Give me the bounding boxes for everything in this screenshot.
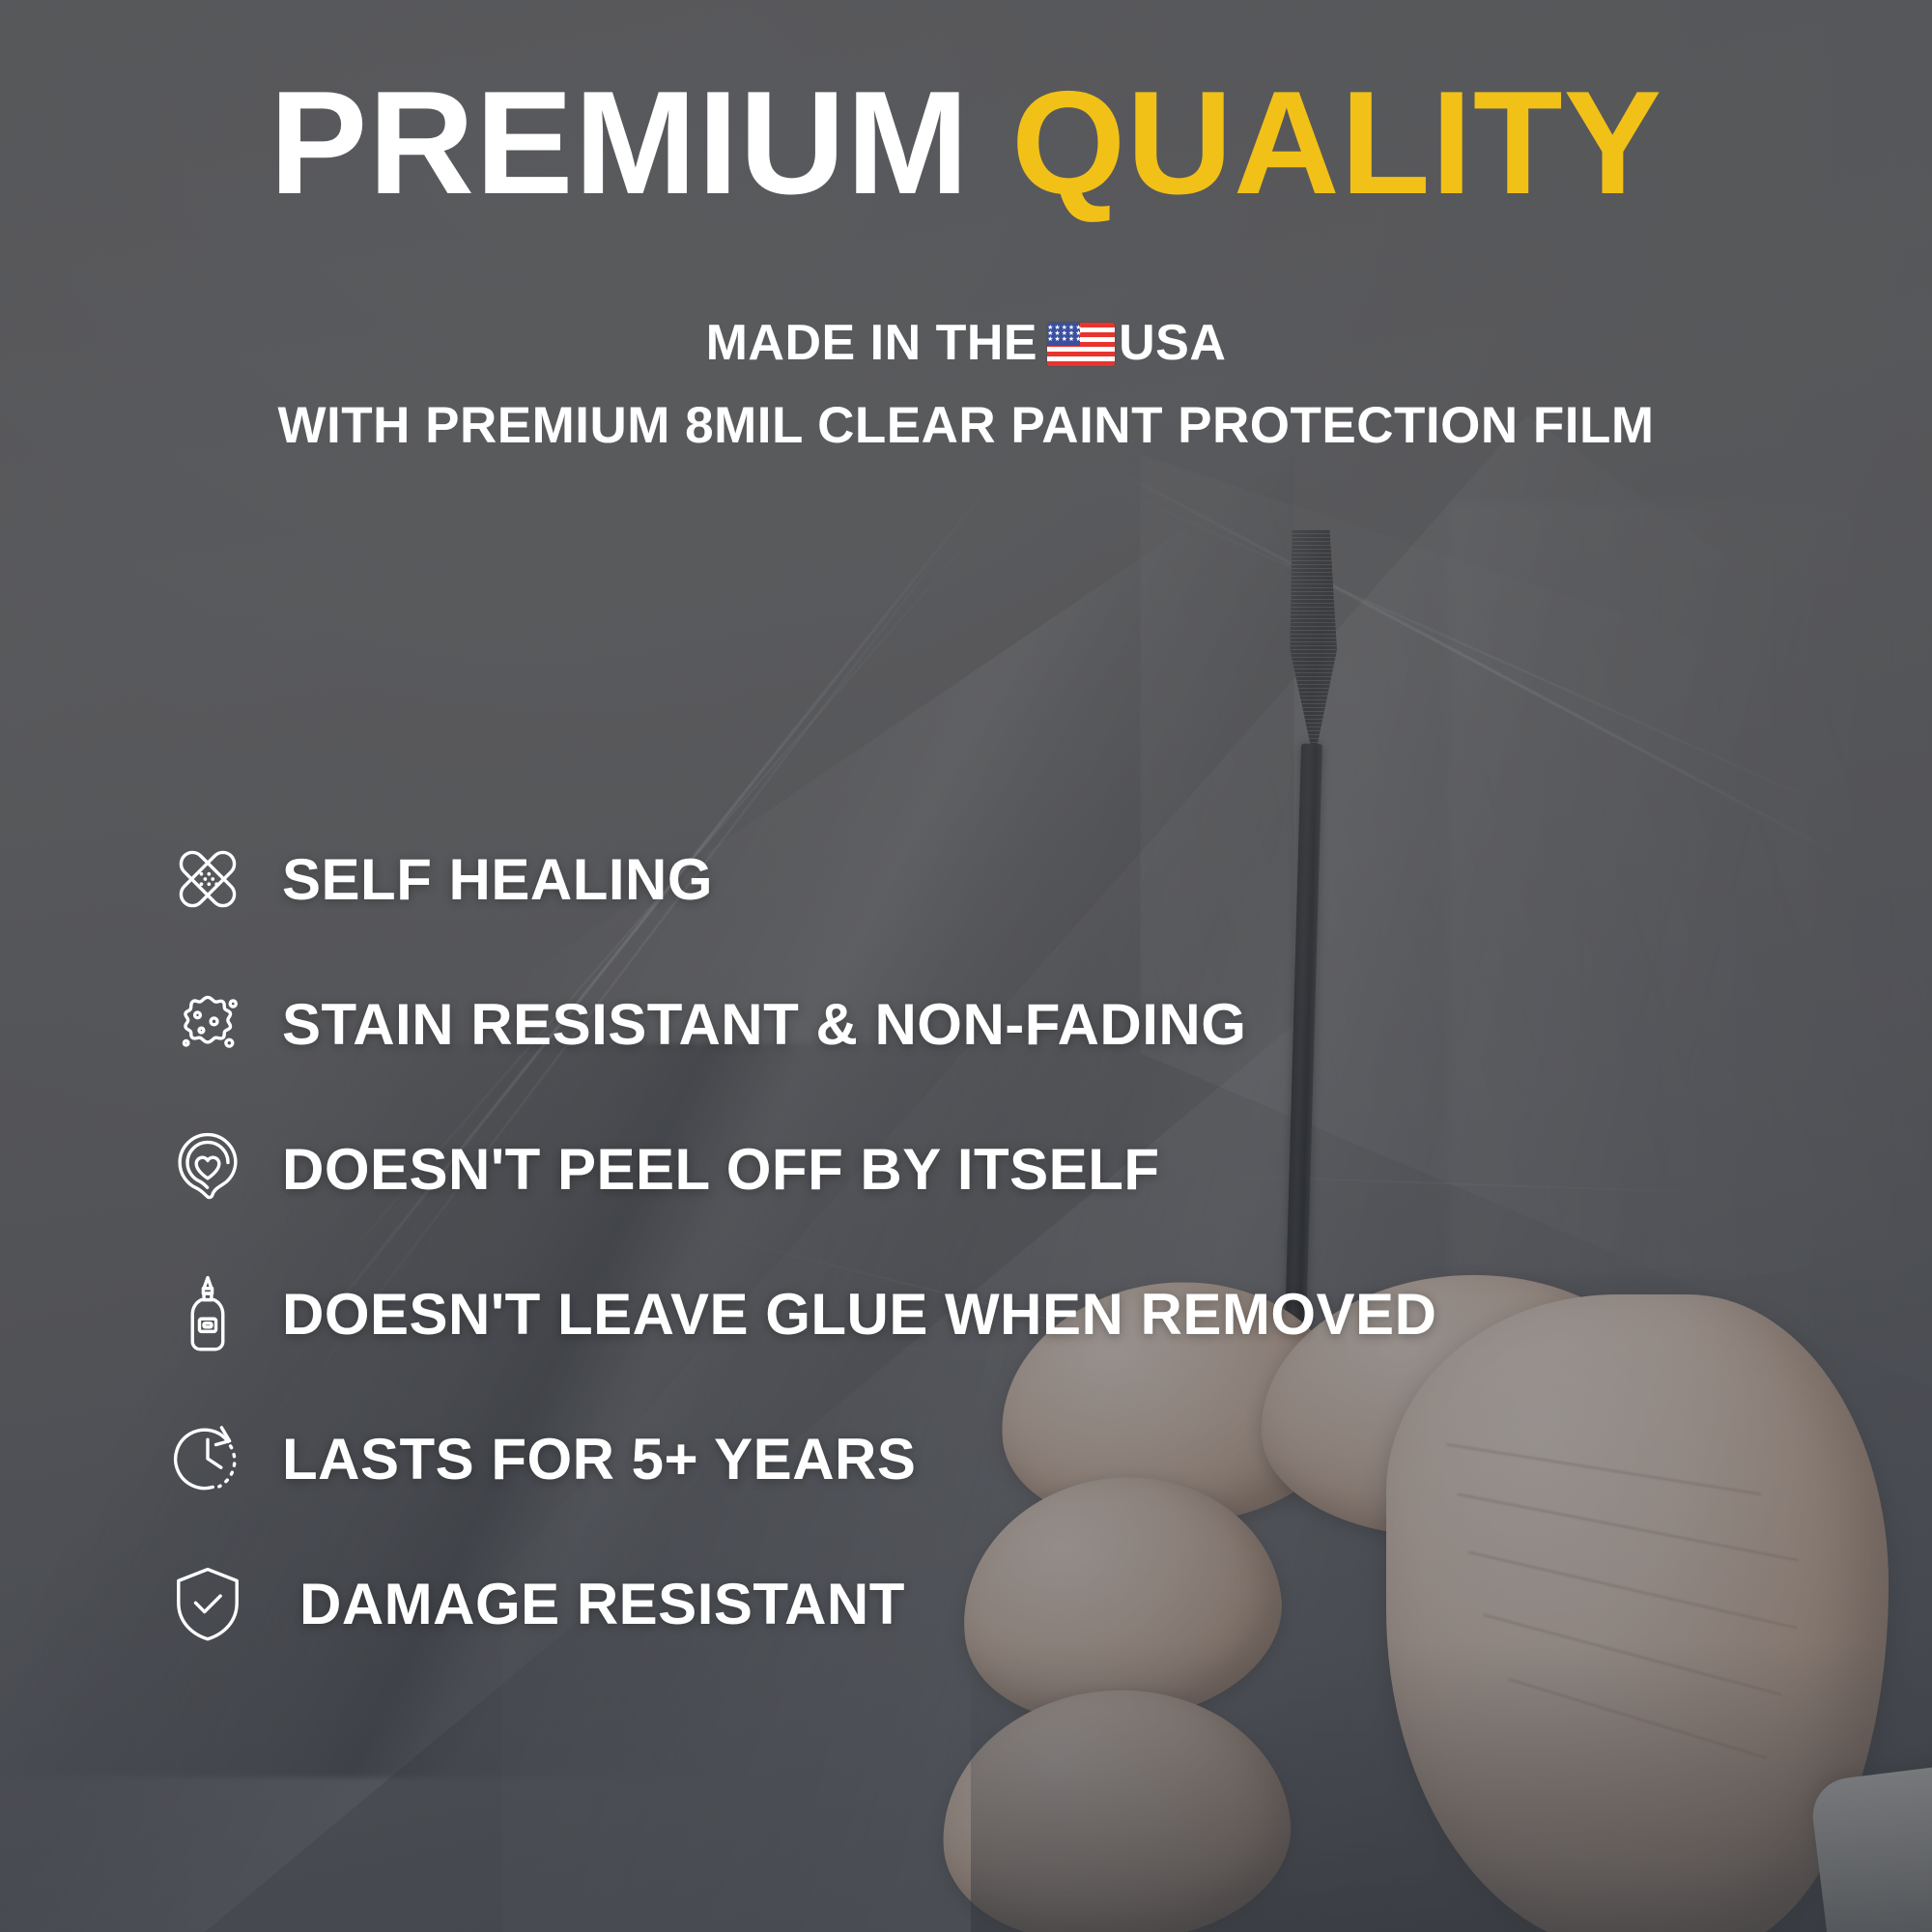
feature-label: DAMAGE RESISTANT bbox=[299, 1571, 905, 1637]
stain-splat-icon bbox=[155, 983, 261, 1065]
promo-graphic: PREMIUM QUALITY MADE IN THE★★★★★ ★★★★★ ★… bbox=[0, 0, 1932, 1932]
feature-label: DOESN'T PEEL OFF BY ITSELF bbox=[282, 1136, 1160, 1203]
feature-label: LASTS FOR 5+ YEARS bbox=[282, 1426, 916, 1492]
feature-self-healing: SELF HEALING bbox=[155, 807, 1816, 952]
feature-list: SELF HEALING STAIN RESISTANT & NON-FADIN… bbox=[155, 807, 1816, 1676]
glue-bottle-icon bbox=[155, 1273, 261, 1354]
headline-premium: PREMIUM bbox=[270, 61, 970, 225]
page-title: PREMIUM QUALITY bbox=[0, 70, 1932, 216]
shield-check-icon bbox=[155, 1563, 261, 1644]
feature-stain-resistant: STAIN RESISTANT & NON-FADING bbox=[155, 952, 1816, 1096]
text-content: PREMIUM QUALITY MADE IN THE★★★★★ ★★★★★ ★… bbox=[0, 0, 1932, 1932]
feature-label: SELF HEALING bbox=[282, 846, 713, 913]
feature-no-glue-residue: DOESN'T LEAVE GLUE WHEN REMOVED bbox=[155, 1241, 1816, 1386]
feature-label: DOESN'T LEAVE GLUE WHEN REMOVED bbox=[282, 1281, 1436, 1348]
feature-label: STAIN RESISTANT & NON-FADING bbox=[282, 991, 1246, 1058]
clock-arrow-icon bbox=[155, 1418, 261, 1499]
feature-no-peel: DOESN'T PEEL OFF BY ITSELF bbox=[155, 1096, 1816, 1241]
subtitle-line1-prefix: MADE IN THE bbox=[706, 315, 1038, 371]
subtitle-film-spec: WITH PREMIUM 8MIL CLEAR PAINT PROTECTION… bbox=[0, 396, 1932, 455]
heart-peel-sticker-icon bbox=[155, 1128, 261, 1209]
headline-quality: QUALITY bbox=[1011, 61, 1662, 225]
subtitle-made-in-usa: MADE IN THE★★★★★ ★★★★★ ★★★★★USA bbox=[0, 314, 1932, 372]
bandage-cross-icon bbox=[155, 838, 261, 920]
subtitle-line1-suffix: USA bbox=[1119, 315, 1226, 371]
feature-damage-resistant: DAMAGE RESISTANT bbox=[155, 1531, 1816, 1676]
flag-stars: ★★★★★ ★★★★★ ★★★★★ bbox=[1047, 323, 1080, 346]
feature-longevity: LASTS FOR 5+ YEARS bbox=[155, 1386, 1816, 1531]
usa-flag-icon: ★★★★★ ★★★★★ ★★★★★ bbox=[1047, 323, 1115, 366]
